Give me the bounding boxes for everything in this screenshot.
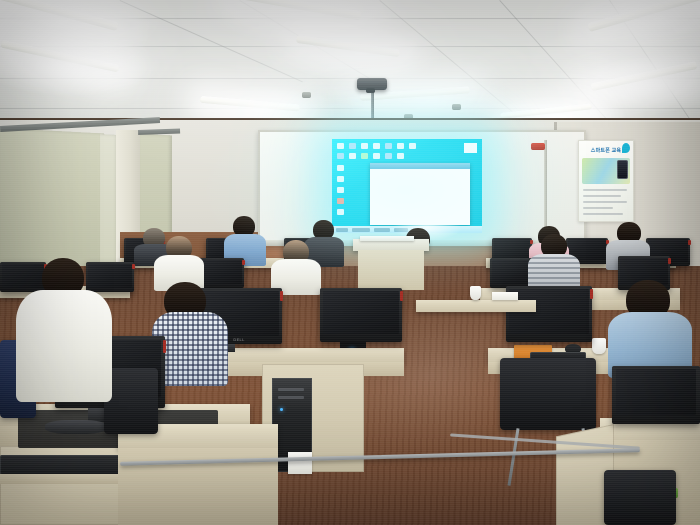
paper-cup — [470, 286, 481, 300]
projected-window-titlebar — [370, 163, 470, 169]
office-chair[interactable] — [500, 358, 596, 430]
monitor-base — [45, 420, 107, 434]
monitor-brand-logo: DELL — [233, 337, 244, 342]
smartphone-icon — [617, 160, 628, 179]
office-chair[interactable] — [104, 368, 158, 434]
computer-desk — [416, 300, 536, 312]
window-roller-blind[interactable] — [0, 128, 104, 281]
paper-stack — [288, 452, 312, 474]
lcd-monitor — [612, 366, 700, 424]
classroom-photo: 스마트폰 교육 — [0, 0, 700, 525]
lcd-monitor — [86, 262, 134, 292]
paper-stack — [492, 292, 518, 300]
projected-highlight — [464, 143, 477, 153]
poster-pin-icon — [622, 143, 630, 153]
seated-student — [16, 290, 112, 402]
ceiling-sprinkler-head — [452, 104, 461, 110]
marker-holder-icon — [531, 143, 545, 150]
office-chair[interactable] — [604, 470, 676, 525]
lcd-monitor — [0, 262, 46, 292]
wall-poster: 스마트폰 교육 — [578, 140, 634, 222]
instructor-podium — [358, 250, 424, 290]
lcd-monitor — [320, 288, 402, 342]
paper-stack — [360, 236, 414, 241]
lcd-monitor — [506, 286, 592, 342]
projector-lens-icon — [366, 88, 375, 93]
paper-cup — [592, 338, 606, 354]
whiteboard-rail — [544, 140, 547, 240]
ceiling-sprinkler-head — [302, 92, 311, 98]
